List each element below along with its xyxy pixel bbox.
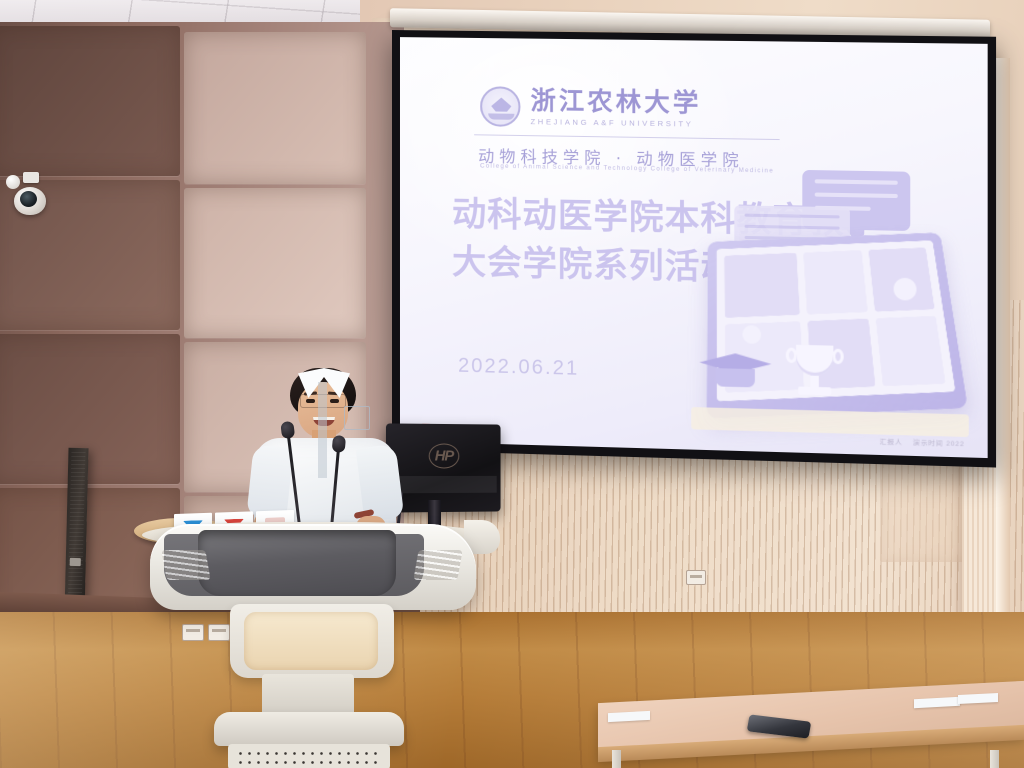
footer-note-0: 汇报人 [880,436,903,447]
trophy-handle-right [832,349,843,365]
lectern-vent-right [413,550,462,580]
monitor-back-strip [390,476,497,493]
acoustic-panel [0,26,180,176]
eye-left [306,399,315,403]
slide-date: 2022.06.21 [458,355,579,381]
camera-sensor-ball [6,175,20,189]
university-crest-icon [480,86,520,127]
shirt-pocket [344,406,370,430]
sleeve-left [246,444,293,520]
university-logo: 浙江农林大学 ZHEJIANG A&F UNIVERSITY [480,86,701,130]
conference-hall-photo: 浙江农林大学 ZHEJIANG A&F UNIVERSITY 动物科技学院 · … [0,0,1024,768]
graduation-cap-icon [699,353,771,395]
acoustic-panel [0,334,180,484]
lectern-top [150,524,476,610]
hp-logo: HP [429,443,459,468]
university-name-en: ZHEJIANG A&F UNIVERSITY [531,117,702,129]
trophy-icon [788,345,842,401]
shirt-placket [318,382,327,478]
cap-body [716,368,755,387]
content-card [724,253,800,318]
trophy-base [798,387,831,396]
footer-notes: 汇报人 演示时间 2022 [880,436,965,449]
lectern-speaker-grille [228,744,390,768]
content-card [803,250,867,314]
avatar-icon [743,325,762,344]
lectern-control-well [198,530,396,596]
wall-outlet[interactable] [686,570,706,585]
university-name-cn: 浙江农林大学 [531,88,702,116]
lectern-vent-left [161,550,210,580]
speaker-badge [70,558,81,566]
lectern-front-panel [244,612,378,670]
acoustic-panel [184,32,366,184]
content-card [875,316,945,386]
security-camera-icon [6,172,52,220]
table-leg [612,750,621,768]
camera-mount [23,172,39,183]
projection-screen: 浙江农林大学 ZHEJIANG A&F UNIVERSITY 动物科技学院 · … [392,30,996,468]
lectern-column [262,674,354,716]
table-leg [990,750,999,768]
camera-lens [20,191,37,207]
multimedia-lectern [148,516,478,768]
avatar-icon [894,278,917,301]
conference-table [598,692,1024,768]
acoustic-panel [184,188,366,338]
slide-illustration [681,164,981,446]
footer-note-1: 演示时间 2022 [913,436,965,448]
presentation-slide: 浙江农林大学 ZHEJIANG A&F UNIVERSITY 动物科技学院 · … [400,37,988,458]
trophy-cup [796,345,833,376]
eye-right [330,399,339,403]
lectern-base [214,712,404,746]
